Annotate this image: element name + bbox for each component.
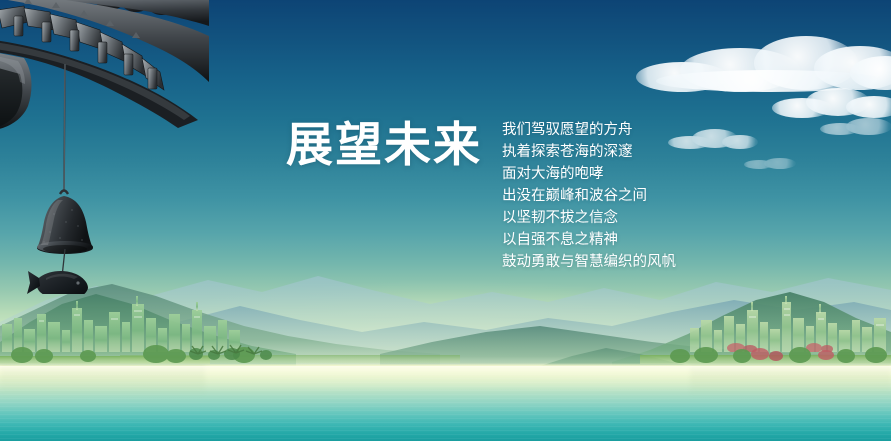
hero-banner: 展望未来 我们驾驭愿望的方舟 执着探索苍海的深邃 面对大海的咆哮 出没在巅峰和波… xyxy=(0,0,891,441)
page-title: 展望未来 xyxy=(286,122,482,169)
water-ripples xyxy=(0,366,891,441)
poem-line: 以坚韧不拔之信念 xyxy=(502,207,712,229)
poem-line: 我们驾驭愿望的方舟 xyxy=(502,119,712,141)
poem-line: 执着探索苍海的深邃 xyxy=(502,141,712,163)
poem-line: 以自强不息之精神 xyxy=(502,229,712,251)
wind-bell-icon xyxy=(24,64,124,294)
poem-line: 出没在巅峰和波谷之间 xyxy=(502,185,712,207)
poem-line: 面对大海的咆哮 xyxy=(502,163,712,185)
poem-block: 我们驾驭愿望的方舟 执着探索苍海的深邃 面对大海的咆哮 出没在巅峰和波谷之间 以… xyxy=(502,119,712,273)
fish-clapper-icon xyxy=(27,268,88,294)
poem-line: 鼓动勇敢与智慧编织的风帆 xyxy=(502,251,712,273)
